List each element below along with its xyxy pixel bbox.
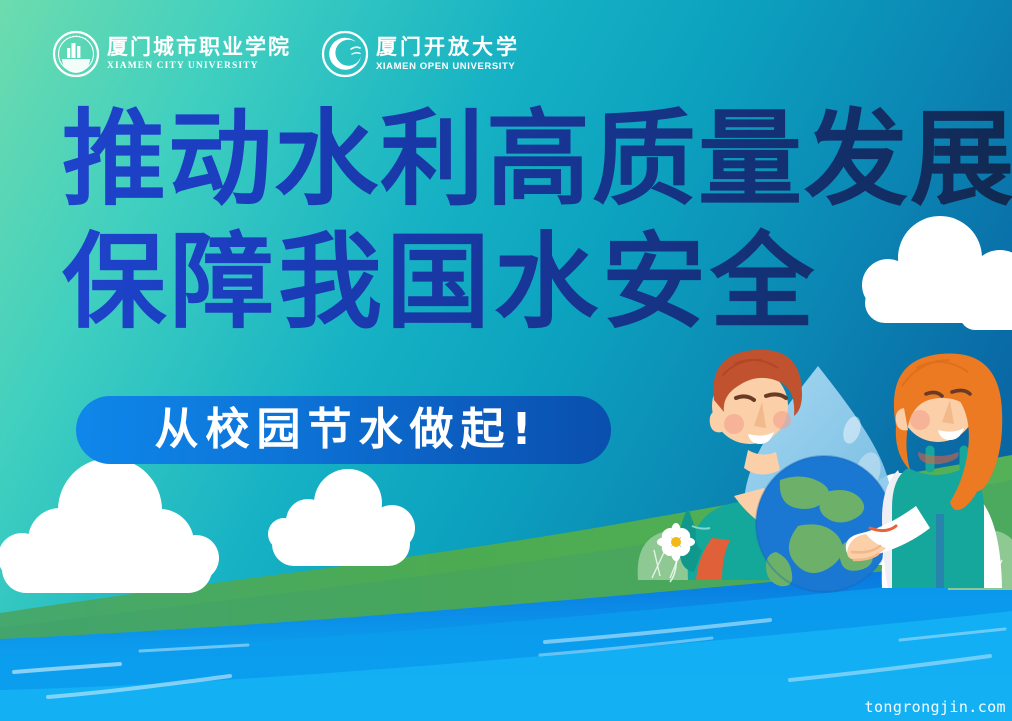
logo-xiamen-open-university: 厦门开放大学 XIAMEN OPEN UNIVERSITY	[321, 30, 520, 78]
circular-wave-emblem	[321, 30, 369, 78]
logo-bar: 厦门城市职业学院 XIAMEN CITY UNIVERSITY 厦门开放大学 X…	[52, 30, 520, 78]
headline-block: 推动水利高质量发展 保障我国水安全	[62, 98, 1012, 343]
slogan-badge: 从校园节水做起!	[76, 396, 611, 464]
poster-canvas: 厦门城市职业学院 XIAMEN CITY UNIVERSITY 厦门开放大学 X…	[0, 0, 1012, 721]
cloud-mid-center	[268, 469, 415, 566]
logo1-name-en: XIAMEN CITY UNIVERSITY	[107, 62, 291, 72]
cloud-large-left	[0, 458, 219, 593]
watermark: tongrongjin.com	[865, 698, 1006, 716]
logo-xiamen-city-university: 厦门城市职业学院 XIAMEN CITY UNIVERSITY	[52, 30, 291, 78]
children-globe-illustration	[630, 330, 1012, 630]
circular-seal-emblem	[52, 30, 100, 78]
slogan-badge-text: 从校园节水做起!	[148, 408, 538, 452]
logo2-name-en: XIAMEN OPEN UNIVERSITY	[376, 62, 520, 72]
logo2-name-cn: 厦门开放大学	[376, 37, 520, 58]
logo1-name-cn: 厦门城市职业学院	[107, 37, 291, 58]
headline-line-1: 推动水利高质量发展	[62, 98, 1012, 221]
earth-globe	[756, 456, 892, 592]
headline-line-2: 保障我国水安全	[62, 221, 1012, 344]
